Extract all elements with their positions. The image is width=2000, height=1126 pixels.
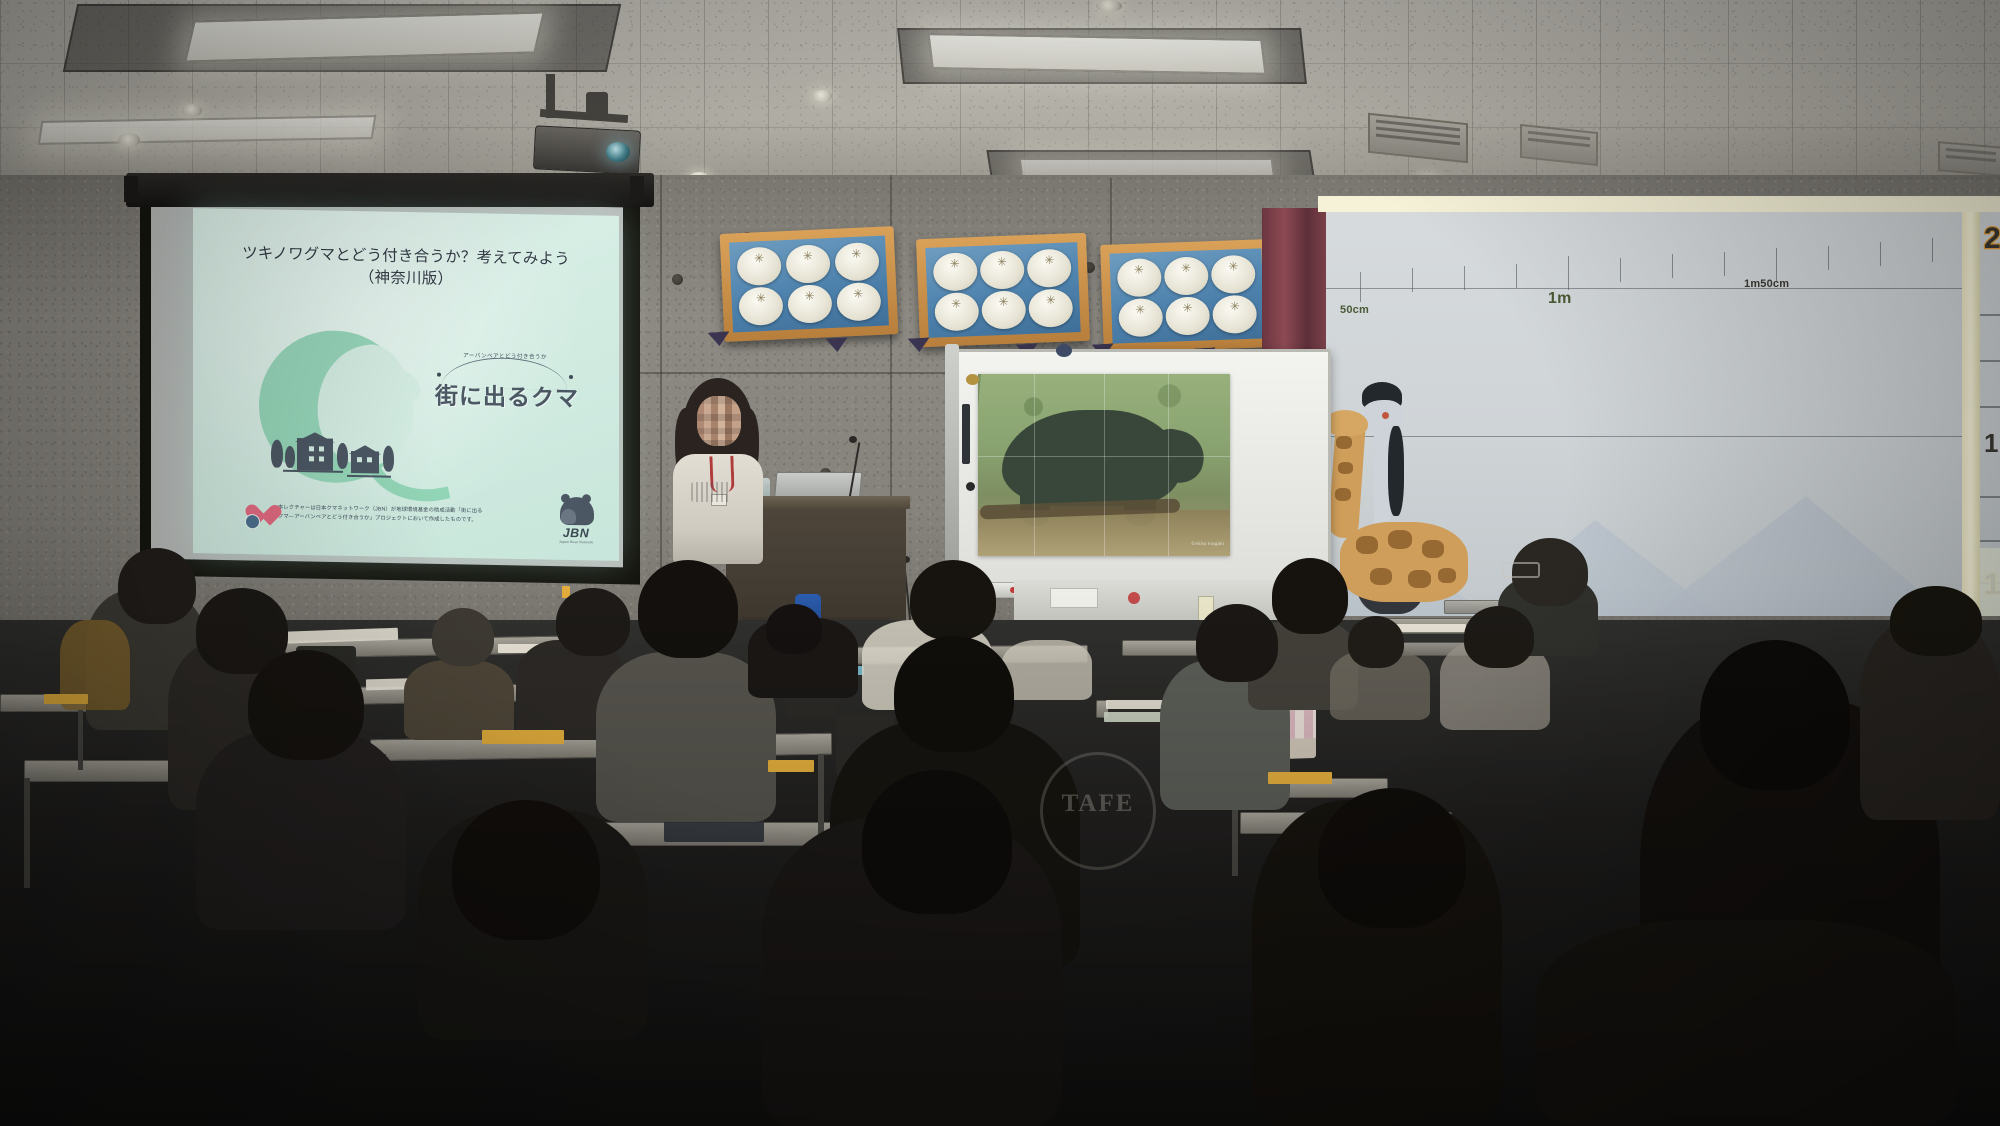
jbn-bear-icon (556, 493, 596, 526)
bear-poster: ©Akira Inagaki (978, 374, 1230, 556)
fund-badge-icon (245, 514, 260, 529)
wall-tie-hole (672, 274, 683, 285)
ceiling-air-vent (1938, 141, 2000, 177)
slide-artwork: アーバンベアとどう付き合うか 街に出るクマ (249, 321, 579, 502)
slide-title: ツキノワグマとどう付き合うか？考えてみよう （神奈川版） (193, 242, 619, 295)
footnote-text: 本レクチャーは日本クマネットワーク（JBN）が地球環境基金の助成活動「街に出る … (278, 504, 483, 525)
specimen-disc (787, 284, 833, 324)
heart-icon (245, 504, 271, 528)
specimen-disc (1212, 295, 1257, 335)
projection-screen-case (126, 173, 654, 207)
cabinet-label (1050, 588, 1098, 608)
book (664, 820, 764, 842)
specimen-disc (834, 242, 880, 282)
specimen-disc (836, 282, 882, 322)
board-strip (962, 404, 970, 464)
downlight-icon (118, 133, 140, 147)
presenter (663, 378, 771, 558)
specimen-disc (1118, 298, 1163, 338)
specimen-disc (785, 244, 831, 284)
specimen-disc (1027, 248, 1072, 288)
poster-credit: ©Akira Inagaki (1191, 541, 1224, 546)
specimen-disc (981, 290, 1026, 330)
specimen-disc (980, 250, 1025, 290)
downlight-icon (1096, 0, 1122, 12)
specimen-frame-backing (1109, 248, 1264, 343)
giraffe-figure (1326, 418, 1476, 608)
presenter-face-pixelated (697, 396, 741, 446)
jbn-logo: JBN Japan Bear Network (549, 493, 603, 545)
lecture-room-photo: 50cm 1m 1m50cm 2m 1m50 1m (0, 0, 2000, 1126)
specimen-disc (737, 246, 783, 286)
campaign-logo: アーバンベアとどう付き合うか 街に出るクマ (435, 355, 575, 436)
projector-lens (606, 142, 630, 162)
screen-bracket (124, 176, 138, 202)
specimen-disc (1028, 288, 1073, 328)
house-icon (297, 438, 333, 471)
magnet (966, 482, 975, 491)
house-window (367, 457, 372, 462)
house-window (357, 457, 362, 462)
magnet (1056, 344, 1072, 357)
house-window (319, 456, 324, 461)
tree-icon (271, 440, 283, 468)
specimen-frame (916, 233, 1090, 347)
chart-label-1m: 1m (1548, 290, 1572, 308)
chart-label-2m: 2m (1984, 222, 2000, 256)
specimen-disc (738, 286, 784, 326)
jbn-full-name: Japan Bear Network (549, 540, 603, 545)
specimen-disc (1211, 255, 1256, 295)
indicator-dot (1128, 592, 1140, 604)
ceiling-light (927, 33, 1266, 75)
downlight-icon (182, 104, 202, 117)
magnet (966, 374, 979, 385)
jbn-abbr: JBN (549, 526, 603, 541)
whiteboard: ©Akira Inagaki (953, 349, 1331, 587)
house-window (319, 446, 324, 451)
shirt-print (691, 482, 731, 502)
tree-icon (337, 443, 348, 469)
specimen-frame-backing (925, 242, 1080, 338)
sweatshirt-text: TAFE (1054, 790, 1142, 816)
projected-slide: ツキノワグマとどう付き合うか？考えてみよう （神奈川版） (193, 208, 619, 561)
wall-seam (660, 175, 662, 615)
projector-bracket (586, 92, 608, 120)
specimen-disc (1116, 258, 1161, 298)
chart-label-1m50cm: 1m50cm (1744, 278, 1789, 290)
chart-label-50cm: 50cm (1340, 304, 1369, 316)
house-window (309, 456, 314, 461)
specimen-frame (720, 226, 899, 342)
tree-icon (383, 446, 394, 472)
screen-bracket (630, 176, 644, 202)
slide-footnote: 本レクチャーは日本クマネットワーク（JBN）が地球環境基金の助成活動「街に出る … (245, 503, 545, 533)
downlight-icon (812, 90, 832, 102)
specimen-disc (934, 292, 979, 332)
whiteboard-hinge (945, 344, 959, 592)
slide-title-line2: （神奈川版） (193, 265, 619, 295)
tree-icon (285, 446, 295, 468)
chart-label-1m50: 1m50 (1984, 428, 2000, 459)
specimen-disc (1165, 296, 1210, 336)
specimen-frame (1100, 239, 1274, 353)
specimen-frame-backing (729, 236, 889, 333)
slide-title-line1: ツキノワグマとどう付き合うか？考えてみよう (242, 245, 570, 268)
eyeglasses-icon (1502, 562, 1540, 578)
logo-arc-text: アーバンベアとどう付き合うか (435, 351, 575, 362)
specimen-disc (1164, 256, 1209, 296)
specimen-disc (932, 252, 977, 292)
house-window (309, 446, 314, 451)
logo-main-text: 街に出るクマ (435, 377, 577, 414)
